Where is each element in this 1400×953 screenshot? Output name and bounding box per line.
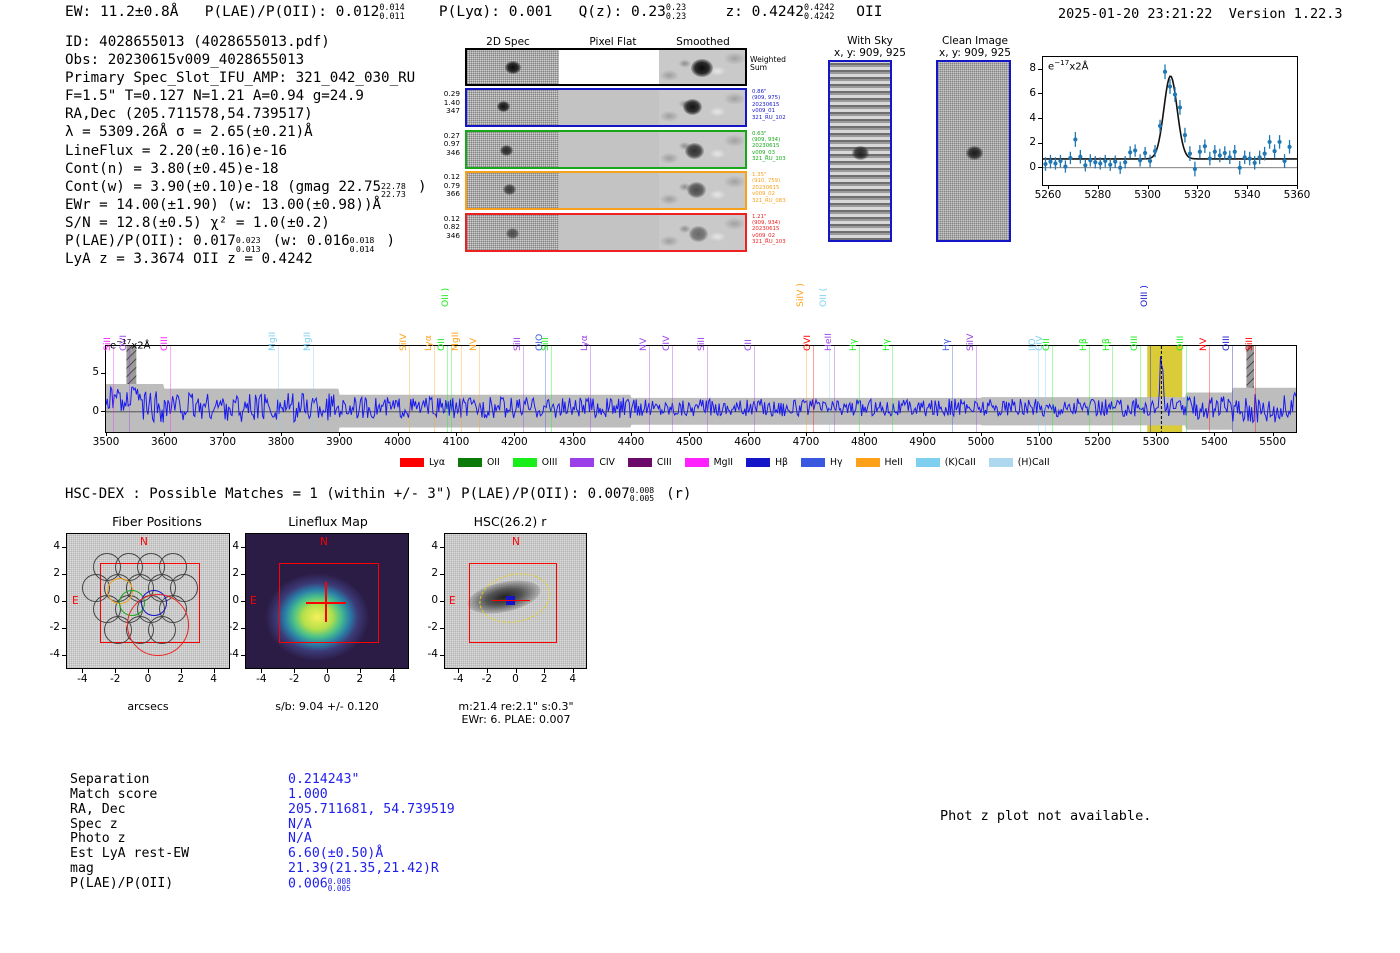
fiber-row-meta: 0.86"(909, 975)20230615v009_01321_RU_102: [752, 89, 800, 121]
emission-line-marker: [829, 346, 830, 432]
bigspec-ytick-label: 0: [79, 405, 99, 417]
emission-line-label: OII: [1041, 338, 1052, 351]
bigspec-xtick-label: 3900: [315, 436, 363, 448]
plae-label: P(LAE)/P(OII):: [205, 4, 327, 20]
match-row-label: P(LAE)/P(OII): [70, 877, 288, 892]
bigspec-xtick-label: 4000: [374, 436, 422, 448]
emission-line-label: HeII: [823, 333, 834, 351]
emission-line-label: SiII: [512, 337, 523, 351]
match-table-row: Est LyA rest-EW6.60(±0.50)Å: [70, 847, 455, 862]
fiber-row-meta: 1.35"(910, 759)20230615v009_02321_RU_083: [752, 172, 800, 204]
emission-line-label: Hβ: [1101, 338, 1112, 351]
emission-line-marker: [1140, 346, 1141, 432]
bigspec-xtick-label: 3800: [257, 436, 305, 448]
match-row-label: Photo z: [70, 832, 288, 847]
cutout-ytick: [62, 628, 66, 629]
cutout-ytick-label: -2: [218, 621, 239, 633]
emission-line-marker: [1150, 346, 1151, 432]
fiber-meta-4: 321_RU_103: [752, 156, 800, 162]
emission-line-marker: [1089, 346, 1090, 432]
emission-line-marker: [813, 346, 814, 432]
cutout-ytick: [440, 655, 444, 656]
weighted-sum-label: Weighted Sum: [750, 56, 790, 72]
caption-lineflux: s/b: 9.04 +/- 0.120: [245, 700, 409, 713]
z-value: 0.4242: [752, 4, 804, 20]
withsky-title-block: With Sky x, y: 909, 925: [820, 35, 920, 59]
cutout-ytick-label: 0: [417, 594, 438, 606]
cutout-ytick: [241, 574, 245, 575]
cutout-ytick: [62, 601, 66, 602]
emission-line-label: SiII: [540, 337, 551, 351]
emission-line-label: SiIV ): [795, 283, 806, 307]
hsc-image-cutout[interactable]: [444, 533, 587, 669]
bigspec-xtick-label: 4600: [724, 436, 772, 448]
panel-title-pixelflat: Pixel Flat: [578, 36, 648, 48]
info-cont-w: Cont(w) = 3.90(±0.10)e-18 (gmag 22.7522.…: [65, 178, 427, 196]
cutout-ytick: [241, 547, 245, 548]
version-label: Version 1.22.3: [1229, 6, 1343, 22]
emission-line-marker: [1112, 346, 1113, 432]
cutout-xtick-label: 0: [311, 673, 343, 685]
emission-line-label: OIII ): [1139, 285, 1150, 307]
legend-label: (K)CaII: [945, 457, 976, 468]
info-wavelength-sigma: λ = 5309.26Å σ = 2.65(±0.21)Å: [65, 123, 427, 141]
emission-line-marker: [278, 346, 279, 432]
emission-line-marker: [1186, 346, 1187, 432]
fiber-stat-2: 347: [418, 107, 460, 116]
cutout-ytick-label: -4: [39, 648, 60, 660]
crosshair-v: [325, 582, 327, 622]
bigspec-xtick-label: 5300: [1132, 436, 1180, 448]
match-row-label: Est LyA rest-EW: [70, 847, 288, 862]
qz-label: Q(z):: [579, 4, 623, 20]
emission-line-label: MgII: [267, 332, 278, 351]
fiber-meta-4: 321_RU_103: [752, 239, 800, 245]
match-table-row: RA, Dec205.711681, 54.739519: [70, 803, 455, 818]
match-table-row: Separation0.214243": [70, 773, 455, 788]
cutout-ytick-label: 0: [39, 594, 60, 606]
match-row-label: Match score: [70, 788, 288, 803]
info-lineflux: LineFlux = 2.20(±0.16)e-16: [65, 142, 427, 160]
emission-line-label: OII (: [818, 288, 829, 307]
info-radec: RA,Dec (205.711578,54.739517): [65, 105, 427, 123]
xtick-label: 5300: [1128, 189, 1168, 201]
fiber-row-left-stats: 0.291.40347: [418, 90, 460, 116]
photoz-note: Phot z plot not available.: [940, 808, 1151, 824]
emission-line-marker: [859, 346, 860, 432]
emission-line-label: MgII: [450, 332, 461, 351]
bigspec-xtick-label: 4800: [840, 436, 888, 448]
match-row-value: 6.60(±0.50)Å: [288, 847, 455, 862]
caption-fiber: arcsecs: [66, 700, 230, 713]
legend-label: HeII: [885, 457, 903, 468]
cutout-ytick-label: 4: [39, 540, 60, 552]
cutout-xtick-label: 4: [557, 673, 589, 685]
bigspec-xtick-label: 4500: [665, 436, 713, 448]
legend-swatch: [856, 458, 880, 467]
ytick: [1038, 167, 1042, 168]
match-table-row: Spec zN/A: [70, 818, 455, 833]
caption-hsc-2: EWr: 6. PLAE: 0.007: [434, 713, 598, 726]
match-row-label: mag: [70, 862, 288, 877]
emission-line-label: NV: [638, 338, 649, 351]
fiber-row-meta: 1.21"(909, 934)20230615v009_02321_RU_103: [752, 214, 800, 246]
z-species: OII: [856, 4, 882, 20]
cutout-ytick-label: 2: [218, 567, 239, 579]
fiber-highlight-red: [127, 594, 189, 656]
legend-item: Hβ: [746, 457, 788, 468]
legend-label: Lyα: [429, 457, 445, 468]
full-spectrum-plot: [105, 345, 1297, 433]
ytick-label: 8: [1014, 62, 1036, 74]
info-plae: P(LAE)/P(OII): 0.0170.0230.013(w: 0.0160…: [65, 232, 427, 250]
cutout-xtick-label: -2: [278, 673, 310, 685]
match-table-row: mag21.39(21.35,21.42)R: [70, 862, 455, 877]
emission-line-label: SiII: [696, 337, 707, 351]
info-id: ID: 4028655013 (4028655013.pdf): [65, 33, 427, 51]
emission-line-marker: [545, 346, 546, 432]
header-summary-line: EW: 11.2±0.8Å P(LAE)/P(OII): 0.0120.0140…: [65, 4, 882, 20]
emission-line-label: SiIV: [965, 334, 976, 351]
cutout-title-fiber: Fiber Positions: [62, 514, 252, 529]
match-row-value: N/A: [288, 832, 455, 847]
east-label-fiber: E: [72, 595, 79, 607]
plae-value: 0.012: [336, 4, 380, 20]
cutout-ytick: [440, 628, 444, 629]
weighted-sum-strip: [465, 48, 747, 86]
ytick: [1038, 69, 1042, 70]
emission-line-marker: [409, 346, 410, 432]
xtick-label: 5260: [1028, 189, 1068, 201]
info-obs: Obs: 20230615v009_4028655013: [65, 51, 427, 69]
cutout-xtick-label: -4: [245, 673, 277, 685]
emission-line-label: CIII: [159, 336, 170, 351]
with-sky-cutout: [828, 60, 892, 242]
legend-item: CIII: [628, 457, 672, 468]
legend-item: OIII: [513, 457, 558, 468]
emission-line-label: SiII: [1244, 337, 1255, 351]
emission-line-label: Hγ: [881, 339, 892, 351]
match-row-value: 0.0060.0080.005: [288, 877, 455, 892]
zoomplot-flux-unit: e−17x2Å: [1048, 58, 1088, 72]
match-row-value: 21.39(21.35,21.42)R: [288, 862, 455, 877]
bigspec-xtick-label: 3500: [82, 436, 130, 448]
bigspec-xtick-label: 4300: [549, 436, 597, 448]
ytick-label: 4: [1014, 112, 1036, 124]
lineflux-map-cutout[interactable]: [245, 533, 409, 669]
hscdex-filter: (r): [666, 486, 691, 502]
bigspec-xtick-label: 5500: [1249, 436, 1297, 448]
cutout-xtick-label: 2: [344, 673, 376, 685]
legend-label: Hβ: [775, 457, 788, 468]
east-label-hsc: E: [449, 595, 456, 607]
cutout-ytick-label: 4: [417, 540, 438, 552]
east-label-lineflux: E: [250, 595, 257, 607]
cutout-ytick: [241, 601, 245, 602]
cutout-xtick-label: 2: [165, 673, 197, 685]
plya-value: 0.001: [509, 4, 553, 20]
emission-line-marker: [1209, 346, 1210, 432]
bigspec-xtick-label: 4700: [782, 436, 830, 448]
cutout-ytick: [440, 601, 444, 602]
legend-label: CIII: [657, 457, 672, 468]
emission-line-marker: [313, 346, 314, 432]
bigspec-flux-unit: e−17x2Å: [110, 337, 150, 351]
emission-line-label: NV: [1198, 338, 1209, 351]
ytick-label: 6: [1014, 87, 1036, 99]
emission-line-marker: [447, 346, 448, 432]
legend-item: Lyα: [400, 457, 445, 468]
cutout-ytick-label: -2: [417, 621, 438, 633]
emission-line-marker: [113, 346, 114, 432]
legend-item: (K)CaII: [916, 457, 976, 468]
fiber-row-left-stats: 0.270.97346: [418, 132, 460, 158]
z-range: 0.42420.4242: [804, 5, 848, 20]
bigspec-xtick-label: 5200: [1074, 436, 1122, 448]
emission-line-label: MgII: [302, 332, 313, 351]
bigspec-xtick-label: 5400: [1190, 436, 1238, 448]
emission-line-marker: [434, 346, 435, 432]
emission-line-label: CIV: [661, 336, 672, 351]
legend-item: OII: [458, 457, 500, 468]
cutout-ytick-label: -2: [39, 621, 60, 633]
match-row-label: RA, Dec: [70, 803, 288, 818]
xtick-label: 5360: [1277, 189, 1317, 201]
emission-line-label: OVI: [802, 335, 813, 351]
emission-line-marker: [1038, 346, 1039, 432]
legend-swatch: [989, 458, 1013, 467]
bigspec-ytick-label: 5: [79, 366, 99, 378]
match-table-row: Photo zN/A: [70, 832, 455, 847]
cutout-xtick-label: 0: [132, 673, 164, 685]
emission-line-marker: [170, 346, 171, 432]
emission-line-label: OIII: [1175, 336, 1186, 351]
cutout-ytick-label: 2: [417, 567, 438, 579]
cutout-ytick-label: -4: [218, 648, 239, 660]
panel-title-2dspec: 2D Spec: [478, 36, 538, 48]
emission-line-marker: [479, 346, 480, 432]
legend-label: OII: [487, 457, 500, 468]
emission-line-label: OII: [436, 338, 447, 351]
detection-info-block: ID: 4028655013 (4028655013.pdf) Obs: 202…: [65, 33, 427, 268]
match-table-row: Match score1.000: [70, 788, 455, 803]
emission-line-label: Hγ: [848, 339, 859, 351]
legend-swatch: [685, 458, 709, 467]
legend-item: (H)CaII: [989, 457, 1050, 468]
ew-value: 11.2±0.8Å: [100, 4, 179, 20]
clean-image-cutout: [936, 60, 1011, 242]
fiber-row-meta: 0.63"(909, 934)20230615v009_03321_RU_103: [752, 131, 800, 163]
ew-label: EW:: [65, 4, 91, 20]
emission-line-marker: [1255, 346, 1256, 432]
emission-line-marker: [707, 346, 708, 432]
caption-hsc-1: m:21.4 re:2.1" s:0.3": [434, 700, 598, 713]
cutout-ytick: [440, 547, 444, 548]
cutout-ytick-label: 4: [218, 540, 239, 552]
cutout-ytick: [62, 655, 66, 656]
legend-label: Hγ: [830, 457, 843, 468]
emission-line-label: SiIV: [398, 334, 409, 351]
cutout-xtick-label: 0: [500, 673, 532, 685]
ytick-label: 2: [1014, 136, 1036, 148]
timestamp-version: 2025-01-20 23:21:22 Version 1.22.3: [1058, 6, 1343, 22]
crosshair-h: [492, 600, 530, 601]
emission-line-marker: [754, 346, 755, 432]
info-primary-spec: Primary Spec_Slot_IFU_AMP: 321_042_030_R…: [65, 69, 427, 87]
match-table-row: P(LAE)/P(OII)0.0060.0080.005: [70, 877, 455, 892]
emission-line-label: Hγ: [941, 339, 952, 351]
match-row-range: 0.0080.005: [328, 877, 362, 890]
bigspec-ytick: [101, 373, 105, 374]
emission-line-marker: [461, 346, 462, 432]
plya-label: P(Lyα):: [439, 4, 500, 20]
emission-line-marker: [551, 346, 552, 432]
emission-line-marker: [976, 346, 977, 432]
qz-range: 0.230.23: [666, 5, 699, 20]
fiber-spec-row: [465, 213, 747, 252]
fiber-spec-row: [465, 171, 747, 210]
ytick: [1038, 143, 1042, 144]
emission-line-label: OIII: [1221, 336, 1232, 351]
cutout-xtick-label: -4: [66, 673, 98, 685]
legend-label: CIV: [599, 457, 615, 468]
cutout-xtick-label: 4: [198, 673, 230, 685]
north-label-hsc: N: [512, 536, 520, 548]
legend-swatch: [801, 458, 825, 467]
bigspec-xtick-label: 4100: [432, 436, 480, 448]
fiber-positions-cutout[interactable]: [66, 533, 230, 669]
cutout-ytick-label: 0: [218, 594, 239, 606]
north-label-fiber: N: [140, 536, 148, 548]
xtick-label: 5340: [1227, 189, 1267, 201]
fiber-meta-4: 321_RU_083: [752, 198, 800, 204]
cutout-xtick-label: -2: [99, 673, 131, 685]
match-row-value: N/A: [288, 818, 455, 833]
qz-value: 0.23: [631, 4, 666, 20]
ytick: [1038, 93, 1042, 94]
fiber-spec-row: [465, 130, 747, 169]
bigspec-xtick-label: 3600: [140, 436, 188, 448]
fiber-stat-2: 366: [418, 190, 460, 199]
emission-line-marker: [1232, 346, 1233, 432]
emission-line-label: OII ): [440, 288, 451, 307]
emission-line-label: Hβ: [1078, 338, 1089, 351]
emission-line-marker: [672, 346, 673, 432]
legend-label: (H)CaII: [1018, 457, 1050, 468]
cutout-ytick: [241, 628, 245, 629]
legend-swatch: [746, 458, 770, 467]
cutout-xtick-label: 2: [528, 673, 560, 685]
fiber-stat-2: 346: [418, 149, 460, 158]
xtick-label: 5280: [1078, 189, 1118, 201]
emission-line-marker: [590, 346, 591, 432]
xtick-label: 5320: [1177, 189, 1217, 201]
bigspec-xtick-label: 4200: [490, 436, 538, 448]
emission-line-label: OIII: [1129, 336, 1140, 351]
info-fwhm: F=1.5" T=0.127 N=1.21 A=0.94 g=24.9: [65, 87, 427, 105]
cutout-title-hsc: HSC(26.2) r: [430, 514, 590, 529]
panel-title-smoothed: Smoothed: [668, 36, 738, 48]
cutout-ytick: [241, 655, 245, 656]
legend-item: HeII: [856, 457, 903, 468]
cutout-xtick-label: 4: [377, 673, 409, 685]
bigspec-ytick: [101, 411, 105, 412]
north-label-lineflux: N: [320, 536, 328, 548]
fiber-row-left-stats: 0.120.82346: [418, 215, 460, 241]
emission-line-marker: [1045, 346, 1046, 432]
legend-item: MgII: [685, 457, 733, 468]
emission-line-marker: [523, 346, 524, 432]
bigspec-xtick-label: 5100: [1015, 436, 1063, 448]
match-row-label: Spec z: [70, 818, 288, 833]
cutout-ytick: [440, 574, 444, 575]
ytick: [1038, 118, 1042, 119]
legend-swatch: [458, 458, 482, 467]
match-row-value: 0.214243": [288, 773, 455, 788]
plae-range: 0.0140.011: [379, 5, 412, 20]
emission-line-marker: [834, 346, 835, 432]
info-sn-chi2: S/N = 12.8(±0.5) χ² = 1.0(±0.2): [65, 214, 427, 232]
legend-label: OIII: [542, 457, 558, 468]
info-ewr: EWr = 14.00(±1.90) (w: 13.00(±0.98))Å: [65, 196, 427, 214]
emission-line-marker: [892, 346, 893, 432]
bigspec-xtick-label: 4400: [607, 436, 655, 448]
emission-line-label: CII: [743, 339, 754, 351]
fiber-spec-row: [465, 88, 747, 127]
emission-line-marker: [806, 346, 807, 432]
fiber-stat-2: 346: [418, 232, 460, 241]
legend-item: CIV: [570, 457, 615, 468]
z-label: z:: [725, 4, 742, 20]
cutout-xtick-label: -2: [471, 673, 503, 685]
emission-line-label: Lyα: [579, 335, 590, 351]
spectrum-legend: LyαOIIOIIICIVCIIIMgIIHβHγHeII(K)CaII(H)C…: [400, 452, 1063, 471]
emission-line-marker: [129, 346, 130, 432]
info-cont-n: Cont(n) = 3.80(±0.45)e-18: [65, 160, 427, 178]
cutout-ytick-label: 2: [39, 567, 60, 579]
bigspec-xtick-label: 5000: [957, 436, 1005, 448]
hscdex-text: HSC-DEX : Possible Matches = 1 (within +…: [65, 486, 630, 502]
legend-swatch: [628, 458, 652, 467]
cleanimage-title-block: Clean Image x, y: 909, 925: [920, 35, 1030, 59]
cutout-ytick-label: -4: [417, 648, 438, 660]
emission-line-label: Lyα: [423, 335, 434, 351]
match-details-table: Separation0.214243"Match score1.000RA, D…: [70, 773, 455, 892]
emission-line-marker: [451, 346, 452, 432]
legend-label: MgII: [714, 457, 733, 468]
legend-swatch: [570, 458, 594, 467]
match-row-value: 205.711681, 54.739519: [288, 803, 455, 818]
cutout-xtick-label: -4: [442, 673, 474, 685]
bigspec-xtick-label: 4900: [899, 436, 947, 448]
bigspec-xtick-label: 3700: [199, 436, 247, 448]
timestamp: 2025-01-20 23:21:22: [1058, 6, 1212, 22]
match-row-value: 1.000: [288, 788, 455, 803]
legend-swatch: [400, 458, 424, 467]
fiber-row-left-stats: 0.120.79366: [418, 173, 460, 199]
legend-item: Hγ: [801, 457, 843, 468]
emission-line-label: NV: [468, 338, 479, 351]
emission-line-zoom-plot: [1042, 56, 1298, 186]
cutout-ytick: [62, 547, 66, 548]
cutout-ytick: [62, 574, 66, 575]
fiber-meta-4: 321_RU_102: [752, 115, 800, 121]
ytick-label: 0: [1014, 161, 1036, 173]
legend-swatch: [916, 458, 940, 467]
emission-line-marker: [1052, 346, 1053, 432]
emission-line-marker: [649, 346, 650, 432]
match-row-label: Separation: [70, 773, 288, 788]
